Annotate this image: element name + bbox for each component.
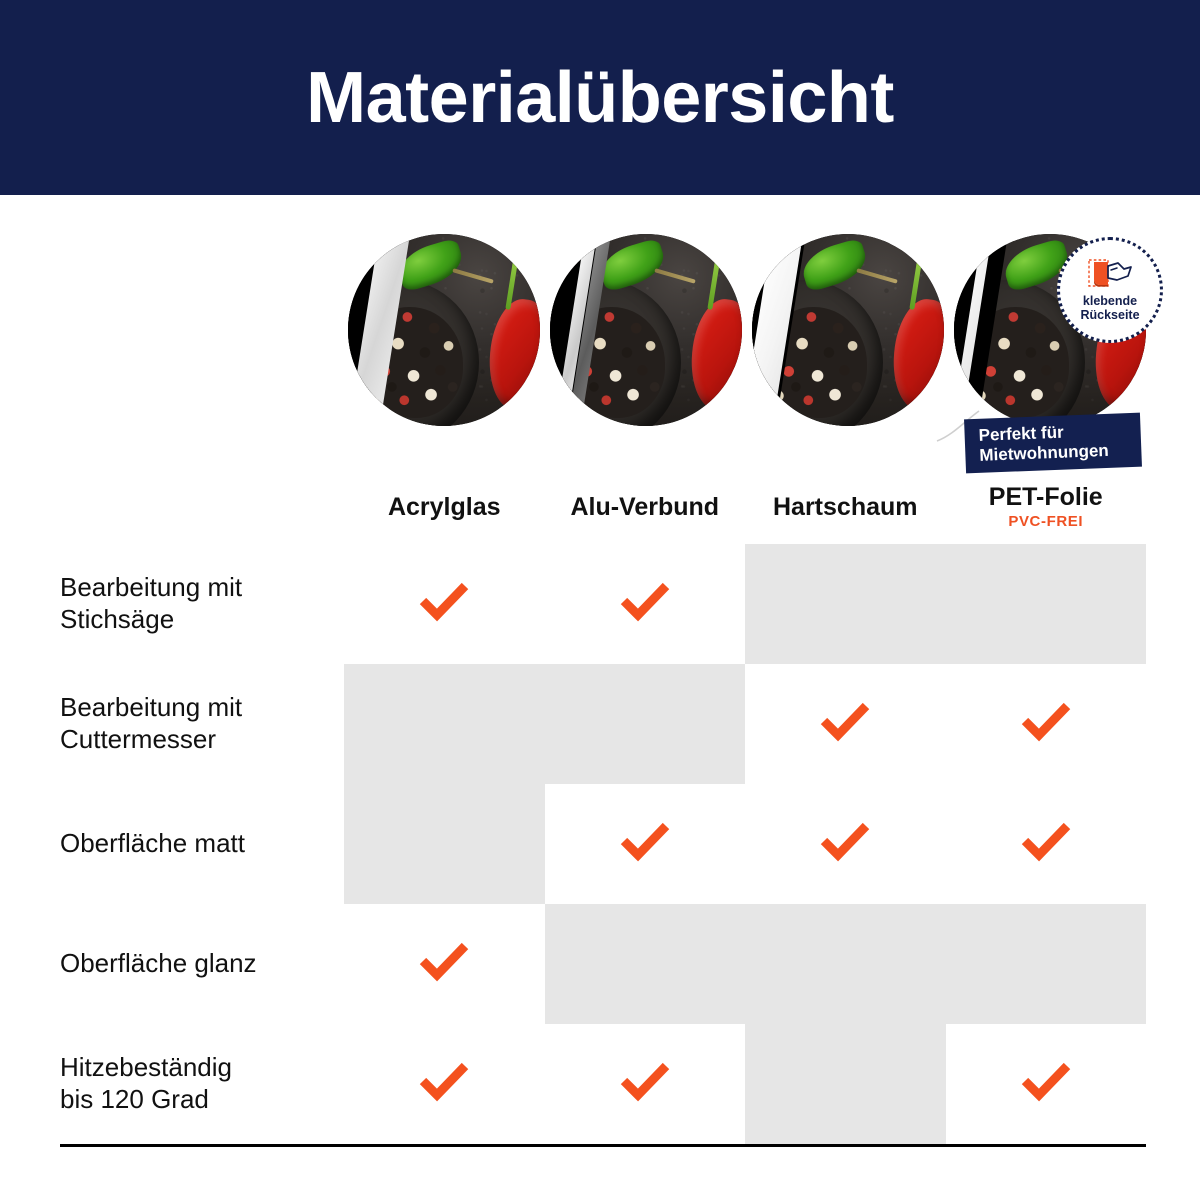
cell-hitze-acrylglas (344, 1024, 545, 1146)
check-icon (619, 582, 671, 622)
row-label-hitzebestaendig: Hitzebeständig bis 120 Grad (60, 1024, 344, 1146)
cell-cuttermesser-hartschaum (745, 664, 946, 784)
product-thumbnail-acrylglas[interactable] (348, 234, 540, 426)
row-label-line1: Bearbeitung mit (60, 572, 344, 604)
table-head: Acrylglas Alu-Verbund Hartschaum PET-Fol… (60, 470, 1146, 544)
row-label-line1: Oberfläche matt (60, 828, 344, 860)
product-thumbnail-alu-verbund[interactable] (550, 234, 742, 426)
row-label-line1: Bearbeitung mit (60, 692, 344, 724)
cell-hitze-alu-verbund (545, 1024, 746, 1146)
column-header-pet-folie: PET-Folie PVC-FREI (946, 470, 1147, 544)
check-icon (418, 582, 470, 622)
column-header-label: Hartschaum (745, 494, 946, 520)
check-icon (418, 942, 470, 982)
material-comparison-table: Acrylglas Alu-Verbund Hartschaum PET-Fol… (60, 470, 1146, 1147)
cell-glanz-alu-verbund (545, 904, 746, 1024)
table-header-row: Acrylglas Alu-Verbund Hartschaum PET-Fol… (60, 470, 1146, 544)
row-label-line2: Stichsäge (60, 604, 344, 636)
check-icon (619, 1062, 671, 1102)
thumbnail-artwork (550, 234, 742, 426)
column-header-label: Acrylglas (344, 494, 545, 520)
cell-hitze-hartschaum (745, 1024, 946, 1146)
thumbnail-artwork (752, 234, 944, 426)
column-header-label: Alu-Verbund (545, 494, 746, 520)
column-header-label: PET-Folie (946, 484, 1147, 510)
column-header-acrylglas: Acrylglas (344, 470, 545, 544)
cell-cuttermesser-acrylglas (344, 664, 545, 784)
table-corner-cell (60, 470, 344, 544)
cell-stichsaege-acrylglas (344, 544, 545, 664)
badge-label-line2: Rückseite (1080, 308, 1139, 322)
check-icon (418, 1062, 470, 1102)
header-banner: Materialübersicht (0, 0, 1200, 195)
cell-cuttermesser-pet-folie (946, 664, 1147, 784)
check-icon (1020, 822, 1072, 862)
column-header-hartschaum: Hartschaum (745, 470, 946, 544)
row-label-line2: bis 120 Grad (60, 1084, 344, 1116)
check-icon (1020, 702, 1072, 742)
cell-stichsaege-alu-verbund (545, 544, 746, 664)
cell-matt-hartschaum (745, 784, 946, 904)
cell-glanz-hartschaum (745, 904, 946, 1024)
thumbnail-artwork (348, 234, 540, 426)
product-thumbnail-strip (344, 234, 1146, 434)
check-icon (1020, 1062, 1072, 1102)
row-label-stichsaege: Bearbeitung mit Stichsäge (60, 544, 344, 664)
cell-glanz-pet-folie (946, 904, 1147, 1024)
adhesive-backing-icon (1087, 258, 1133, 292)
cell-glanz-acrylglas (344, 904, 545, 1024)
row-label-oberflaeche-matt: Oberfläche matt (60, 784, 344, 904)
badge-label-line1: klebende (1080, 294, 1139, 308)
table-row: Oberfläche glanz (60, 904, 1146, 1024)
column-header-alu-verbund: Alu-Verbund (545, 470, 746, 544)
table-row: Bearbeitung mit Cuttermesser (60, 664, 1146, 784)
table-body: Bearbeitung mit Stichsäge Bearbeitung mi… (60, 544, 1146, 1146)
cell-cuttermesser-alu-verbund (545, 664, 746, 784)
check-icon (619, 822, 671, 862)
check-icon (819, 702, 871, 742)
page-title: Materialübersicht (306, 62, 894, 134)
material-comparison-table-wrapper: Acrylglas Alu-Verbund Hartschaum PET-Fol… (60, 470, 1146, 1147)
badge-label: klebende Rückseite (1080, 294, 1139, 322)
column-header-badge-pvc-frei: PVC-FREI (946, 513, 1147, 530)
row-label-cuttermesser: Bearbeitung mit Cuttermesser (60, 664, 344, 784)
product-thumbnail-hartschaum[interactable] (752, 234, 944, 426)
table-row: Oberfläche matt (60, 784, 1146, 904)
check-icon (819, 822, 871, 862)
table-row: Hitzebeständig bis 120 Grad (60, 1024, 1146, 1146)
row-label-line2: Cuttermesser (60, 724, 344, 756)
cell-stichsaege-pet-folie (946, 544, 1147, 664)
table-row: Bearbeitung mit Stichsäge (60, 544, 1146, 664)
cell-hitze-pet-folie (946, 1024, 1147, 1146)
cell-matt-acrylglas (344, 784, 545, 904)
row-label-line1: Hitzebeständig (60, 1052, 344, 1084)
adhesive-backing-badge: klebende Rückseite (1057, 237, 1163, 343)
row-label-oberflaeche-glanz: Oberfläche glanz (60, 904, 344, 1024)
cell-matt-alu-verbund (545, 784, 746, 904)
cell-stichsaege-hartschaum (745, 544, 946, 664)
row-label-line1: Oberfläche glanz (60, 948, 344, 980)
rental-ribbon: Perfekt für Mietwohnungen (964, 413, 1142, 474)
cell-matt-pet-folie (946, 784, 1147, 904)
